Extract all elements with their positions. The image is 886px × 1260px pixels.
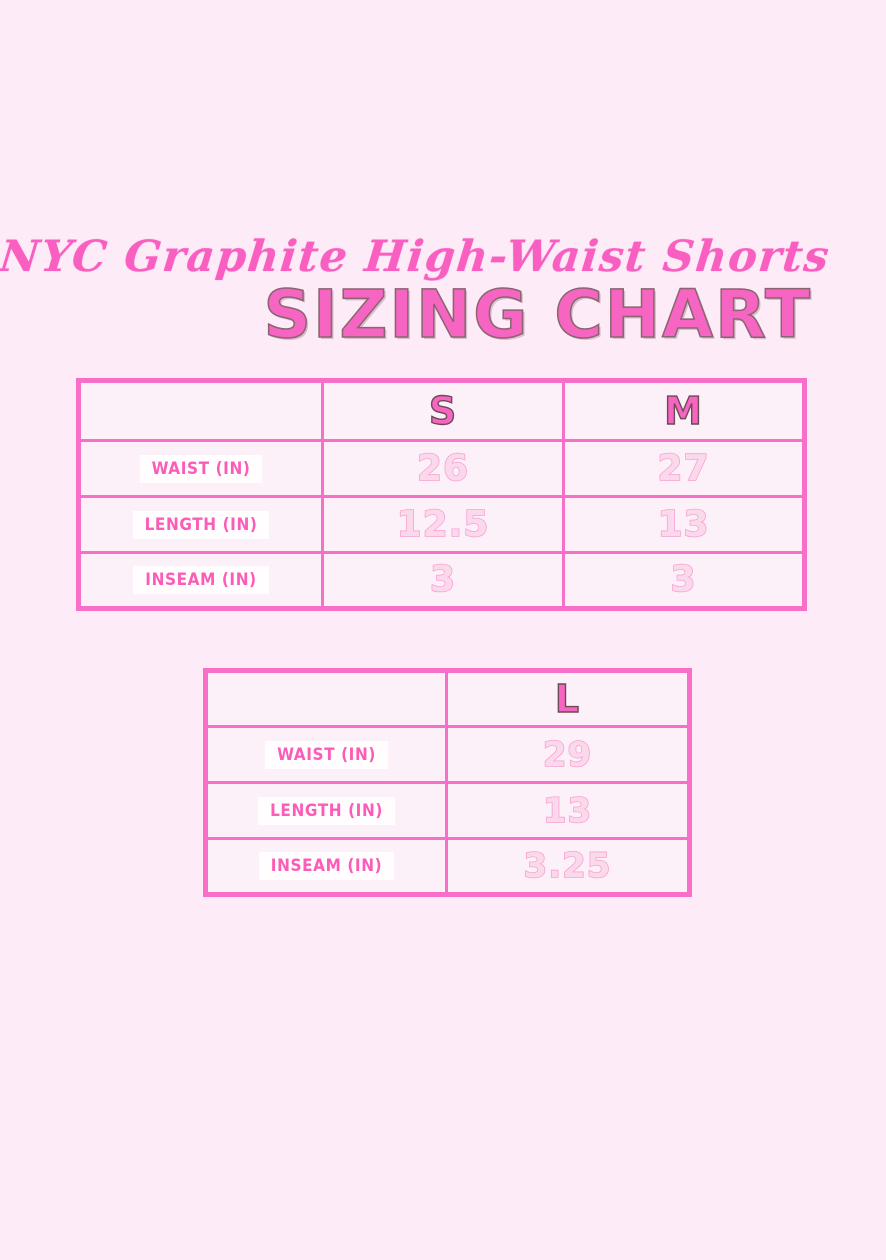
sizing-table-small-medium: S M WAIST (IN) 26 27 LENGTH (IN) 12.5 (76, 378, 807, 611)
size-label-m: M (664, 392, 703, 430)
inseam-value-m: 3 (670, 562, 696, 598)
inseam-value-l: 3.25 (524, 848, 612, 884)
measurement-label-waist: WAIST (IN) (140, 455, 263, 483)
measurement-label-inseam: INSEAM (IN) (259, 852, 394, 880)
measurement-value-cell: 13 (564, 497, 805, 553)
measurement-label-cell: INSEAM (IN) (206, 839, 447, 895)
measurement-value-cell: 3.25 (447, 839, 690, 895)
measurement-value-cell: 12.5 (323, 497, 564, 553)
table-row: WAIST (IN) 29 (206, 727, 690, 783)
chart-header: NYC Graphite High-Waist Shorts SIZING CH… (0, 232, 886, 352)
waist-value-m: 27 (657, 451, 709, 487)
measurement-label-cell: WAIST (IN) (79, 441, 323, 497)
size-column-header-s: S (323, 381, 564, 441)
measurement-label-cell: LENGTH (IN) (79, 497, 323, 553)
measurement-value-cell: 3 (564, 553, 805, 609)
measurement-label-length: LENGTH (IN) (133, 511, 270, 539)
length-value-m: 13 (657, 507, 709, 543)
measurement-value-cell: 26 (323, 441, 564, 497)
measurement-label-cell: INSEAM (IN) (79, 553, 323, 609)
size-column-header-m: M (564, 381, 805, 441)
measurement-label-cell: LENGTH (IN) (206, 783, 447, 839)
measurement-label-inseam: INSEAM (IN) (133, 566, 268, 594)
measurement-value-cell: 3 (323, 553, 564, 609)
corner-cell (79, 381, 323, 441)
size-label-l: L (555, 680, 580, 718)
measurement-value-cell: 29 (447, 727, 690, 783)
size-column-header-l: L (447, 671, 690, 727)
measurement-label-length: LENGTH (IN) (258, 797, 395, 825)
table-row: WAIST (IN) 26 27 (79, 441, 805, 497)
page-title: SIZING CHART (0, 282, 812, 348)
length-value-s: 12.5 (397, 507, 490, 543)
size-label-s: S (429, 392, 457, 430)
table-row: LENGTH (IN) 13 (206, 783, 690, 839)
table-header-row: L (206, 671, 690, 727)
measurement-value-cell: 27 (564, 441, 805, 497)
sizing-table-large: L WAIST (IN) 29 LENGTH (IN) 13 INSEAM (I… (203, 668, 692, 897)
measurement-label-waist: WAIST (IN) (265, 741, 388, 769)
measurement-value-cell: 13 (447, 783, 690, 839)
table-row: INSEAM (IN) 3.25 (206, 839, 690, 895)
length-value-l: 13 (543, 793, 592, 829)
table-header-row: S M (79, 381, 805, 441)
corner-cell (206, 671, 447, 727)
table-row: INSEAM (IN) 3 3 (79, 553, 805, 609)
product-title: NYC Graphite High-Waist Shorts (0, 232, 813, 282)
measurement-label-cell: WAIST (IN) (206, 727, 447, 783)
table-row: LENGTH (IN) 12.5 13 (79, 497, 805, 553)
waist-value-s: 26 (417, 451, 469, 487)
waist-value-l: 29 (543, 737, 592, 773)
inseam-value-s: 3 (430, 562, 456, 598)
